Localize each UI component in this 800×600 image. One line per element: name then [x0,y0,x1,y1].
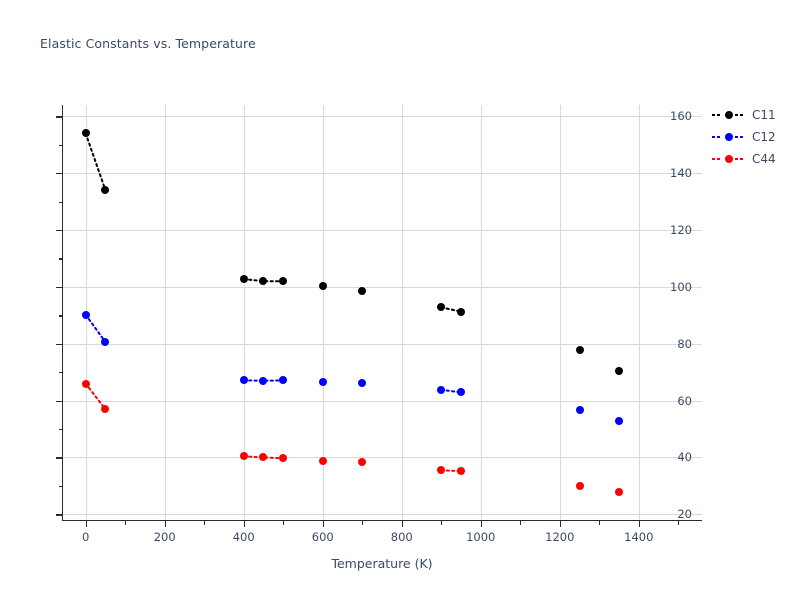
chart-title: Elastic Constants vs. Temperature [40,36,256,51]
series-line-c44 [244,456,284,458]
x-tick-major [402,521,403,527]
x-tick-major [481,521,482,527]
x-tick-minor [441,521,442,525]
x-tick-label: 800 [391,530,413,544]
legend-item-label: C11 [746,108,776,122]
y-tick-label: 140 [670,166,692,180]
x-tick-label: 200 [154,530,176,544]
series-line-c12 [441,390,461,393]
legend-dash-segment [717,158,720,160]
legend-dash-segment [712,114,715,116]
plot-area: 20406080100120140160 [62,105,702,520]
x-tick-major [560,521,561,527]
legend-dash-segment [740,114,743,116]
y-tick-label: 80 [677,337,692,351]
series-line-c12 [86,315,106,342]
legend-dot-icon [725,133,733,141]
legend-dash-segment [740,136,743,138]
legend-marker-icon [712,131,746,143]
legend-dash-segment [712,136,715,138]
x-tick-minor [283,521,284,525]
x-tick-minor [678,521,679,525]
x-tick-major [86,521,87,527]
x-tick-label: 600 [312,530,334,544]
x-tick-minor [599,521,600,525]
x-tick-major [165,521,166,527]
x-tick-layer: 0200400600800100012001400 [62,521,702,551]
legend-dash-segment [735,158,738,160]
x-tick-label: 1400 [624,530,653,544]
x-tick-minor [520,521,521,525]
series-line-c44 [441,470,461,471]
legend-marker-icon [712,109,746,121]
x-axis-label: Temperature (K) [62,556,702,571]
x-tick-label: 1000 [466,530,495,544]
figure-canvas: Elastic Constants vs. Temperature Cij (G… [0,0,800,600]
series-line-c11 [244,279,284,281]
y-tick-label: 120 [670,223,692,237]
y-tick-label: 60 [677,394,692,408]
legend-dash-segment [740,158,743,160]
legend-item-label: C12 [746,130,776,144]
x-tick-label: 400 [233,530,255,544]
legend-dash-segment [735,114,738,116]
y-tick-label: 40 [677,450,692,464]
x-tick-minor [204,521,205,525]
x-tick-major [639,521,640,527]
legend-dash-segment [717,136,720,138]
x-tick-label: 0 [82,530,89,544]
x-tick-label: 1200 [545,530,574,544]
legend-item-c12[interactable]: C12 [712,126,796,148]
series-line-c44 [86,384,106,410]
legend-dot-icon [725,155,733,163]
legend-dash-segment [717,114,720,116]
y-tick-label: 160 [670,109,692,123]
legend-dot-icon [725,111,733,119]
legend-dash-segment [735,136,738,138]
series-line-layer [62,105,702,520]
legend-dash-segment [712,158,715,160]
legend-item-label: C44 [746,152,776,166]
y-axis-spine [62,105,63,520]
series-line-c11 [441,307,461,311]
x-tick-minor [125,521,126,525]
series-line-c11 [86,133,106,190]
legend-item-c44[interactable]: C44 [712,148,796,170]
x-tick-minor [362,521,363,525]
legend-item-c11[interactable]: C11 [712,104,796,126]
y-tick-label: 100 [670,280,692,294]
legend-marker-icon [712,153,746,165]
x-tick-major [323,521,324,527]
x-tick-major [244,521,245,527]
chart-legend: C11C12C44 [712,100,796,176]
